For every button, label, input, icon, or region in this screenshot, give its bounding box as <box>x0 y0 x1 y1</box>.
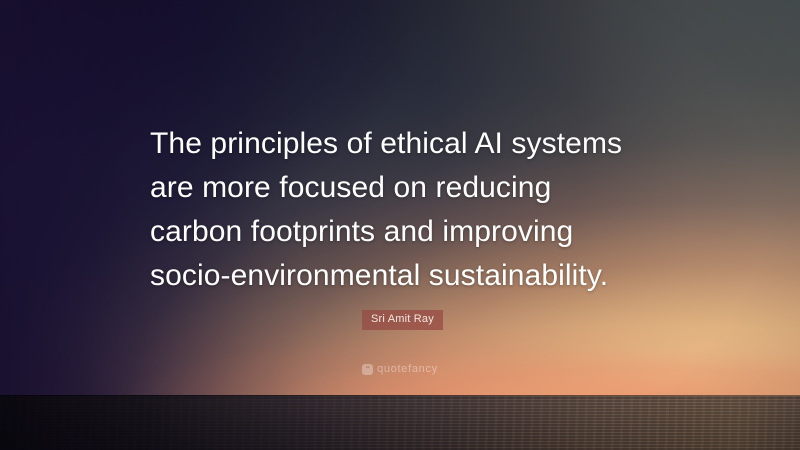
watermark: “ quotefancy <box>0 363 800 375</box>
ocean-water <box>0 396 800 450</box>
ocean-ripple-texture <box>0 396 800 450</box>
quote-line: carbon footprints and improving <box>150 210 690 254</box>
watermark-brand-label: quotefancy <box>377 363 438 375</box>
quote-line: The principles of ethical AI systems <box>150 122 690 166</box>
quote-text-block: The principles of ethical AI systems are… <box>150 122 690 298</box>
author-attribution-badge: Sri Amit Ray <box>362 310 443 330</box>
quote-image-canvas: The principles of ethical AI systems are… <box>0 0 800 450</box>
quote-line: socio-environmental sustainability. <box>150 254 690 298</box>
quote-line: are more focused on reducing <box>150 166 690 210</box>
quote-mark-logo-icon: “ <box>362 364 373 375</box>
